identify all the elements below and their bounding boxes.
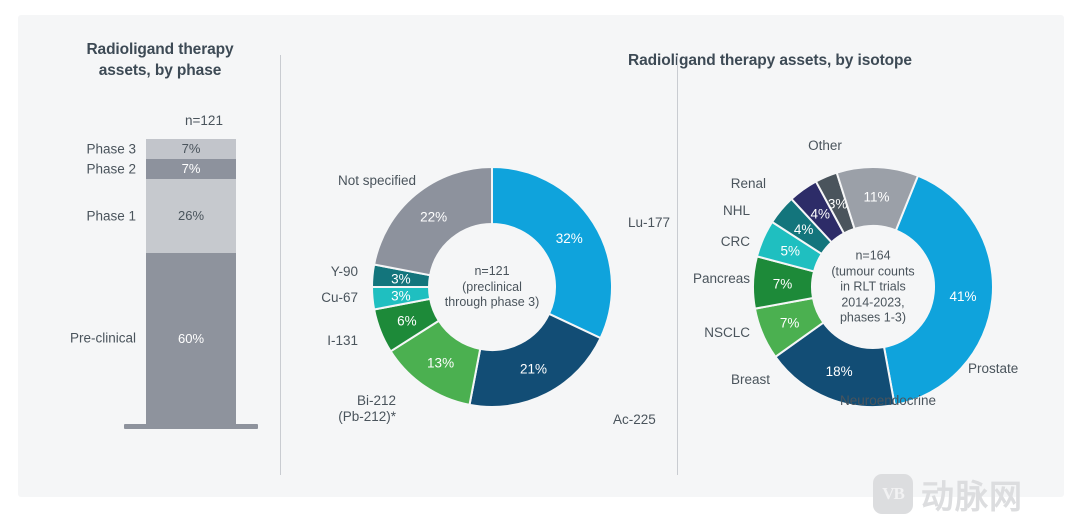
bar-sample-size-label: n=121 — [144, 113, 264, 128]
panel-assets-by-phase: Radioligand therapy assets, by phase n=1… — [38, 15, 283, 497]
bar-segment-label: Phase 2 — [86, 161, 136, 176]
bar-segment-phase-3: Phase 37% — [146, 139, 236, 159]
bar-segment-value: 7% — [182, 161, 201, 176]
donut-label-crc: CRC — [721, 234, 750, 250]
bar-segment-pre-clinical: Pre-clinical60% — [146, 253, 236, 424]
donut-label-i-131: I-131 — [327, 333, 358, 349]
donut-slice-value-lu-177: 32% — [556, 231, 583, 246]
donut-label-not-specified: Not specified — [338, 173, 416, 189]
donut-slice-value-breast: 7% — [780, 315, 800, 330]
donut-label-neuroendocrine: Neuroendocrine — [840, 393, 936, 409]
donut-slice-value-i-131: 6% — [397, 314, 417, 329]
donut-slice-value-not-specified: 22% — [420, 209, 447, 224]
donut-label-bi-212: Bi-212 (Pb-212)* — [338, 393, 396, 425]
donut-slice-value-pancreas: 5% — [780, 243, 800, 258]
bar-segment-value: 60% — [178, 331, 204, 346]
donut-label-prostate: Prostate — [968, 361, 1018, 377]
donut-chart-tumours: 41%18%7%7%5%4%4%3%11%ProstateNeuroendocr… — [688, 15, 1068, 497]
bar-segment-value: 26% — [178, 208, 204, 223]
donut-label-ac-225: Ac-225 — [613, 412, 656, 428]
donut-slice-value-other: 11% — [863, 190, 889, 205]
bar-segment-label: Phase 1 — [86, 208, 136, 223]
donut-label-lu-177: Lu-177 — [628, 215, 670, 231]
donut-center-note: n=121 (preclinical through phase 3) — [432, 264, 552, 311]
page-title-by-phase: Radioligand therapy assets, by phase — [60, 39, 260, 81]
donut-slice-value-crc: 4% — [794, 222, 814, 237]
donut-slice-value-neuroendocrine: 18% — [826, 364, 853, 379]
donut-label-nhl: NHL — [723, 203, 750, 219]
panel-assets-by-isotope: Radioligand therapy assets, by isotope 3… — [298, 15, 678, 497]
panel-tumours-investigated: Tumours investigated in radioligand ther… — [688, 15, 1068, 497]
donut-slice-value-prostate: 41% — [950, 289, 977, 304]
donut-slice-value-ac-225: 21% — [520, 362, 547, 377]
donut-slice-value-y-90: 3% — [391, 271, 411, 286]
divider-right — [677, 55, 678, 475]
watermark-logo-icon: VB — [873, 474, 913, 514]
bar-segment-phase-2: Phase 27% — [146, 159, 236, 179]
donut-label-y-90: Y-90 — [331, 264, 358, 280]
donut-label-renal: Renal — [731, 176, 766, 192]
bar-pedestal-base — [124, 424, 258, 429]
bar-segment-label: Phase 3 — [86, 141, 136, 156]
bar-segment-label: Pre-clinical — [70, 331, 136, 346]
donut-slice-value-bi-212: 13% — [427, 356, 454, 371]
donut-slice-lu-177 — [492, 167, 612, 338]
donut-label-cu-67: Cu-67 — [321, 290, 358, 306]
donut-slice-ac-225 — [470, 314, 601, 407]
donut-label-nsclc: NSCLC — [704, 325, 750, 341]
donut-center-note: n=164 (tumour counts in RLT trials 2014-… — [815, 248, 931, 326]
donut-slice-value-nsclc: 7% — [773, 277, 793, 292]
donut-label-pancreas: Pancreas — [693, 271, 750, 287]
divider-left — [280, 55, 281, 475]
bar-segment-phase-1: Phase 126% — [146, 179, 236, 253]
donut-label-other: Other — [808, 138, 842, 154]
bar-segment-value: 7% — [182, 141, 201, 156]
donut-chart-isotope: 32%21%13%6%3%3%22%Lu-177Ac-225Bi-212 (Pb… — [298, 15, 678, 497]
donut-label-breast: Breast — [731, 372, 770, 388]
donut-slice-value-cu-67: 3% — [391, 289, 411, 304]
infographic-card: Radioligand therapy assets, by phase n=1… — [18, 15, 1064, 497]
stacked-bar-chart: Phase 37%Phase 27%Phase 126%Pre-clinical… — [146, 139, 236, 424]
